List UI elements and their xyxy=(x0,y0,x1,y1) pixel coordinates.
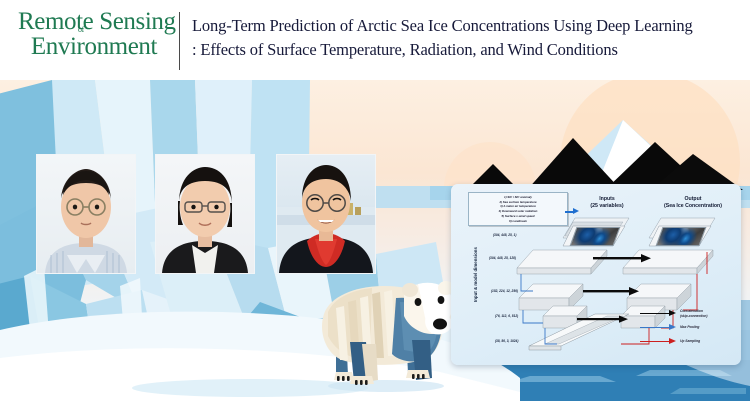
max-pooling-arrow-icon xyxy=(640,327,676,329)
legend-label-line1: Concatenation xyxy=(680,309,703,313)
legend-label-max-pooling: Max Pooling xyxy=(680,325,699,329)
journal-name-line2-wrap: of Environment xyxy=(18,34,170,59)
up-sampling-arrow-icon xyxy=(640,341,676,343)
author-photo-2 xyxy=(155,154,255,274)
inputs-heading-line2: (25 variables) xyxy=(567,203,647,210)
journal-name-line2: Environment xyxy=(31,33,157,60)
journal-logo: Remote Sensing of Environment xyxy=(18,9,170,59)
model-architecture-diagram: 1) SIC / SIC anomaly 2) Sea surface temp… xyxy=(451,184,741,365)
journal-name-line1: Remote Sensing xyxy=(18,9,170,34)
legend-label-line2: (skip-connection) xyxy=(680,314,707,318)
journal-graphical-abstract: 1) SIC / SIC anomaly 2) Sea surface temp… xyxy=(0,0,750,401)
inputs-heading-line1: Inputs xyxy=(567,196,647,203)
inputs-heading: Inputs (25 variables) xyxy=(567,196,647,210)
journal-name-of: of xyxy=(78,26,84,34)
input-flow-arrow-icon xyxy=(565,211,574,213)
diagram-legend: Concatenation (skip-connection) Max Pool… xyxy=(640,309,736,351)
legend-label-up-sampling: Up Sampling xyxy=(680,339,700,343)
concatenation-arrow-icon xyxy=(640,313,676,315)
dimension-label-0: (304, 448, 25, 1) xyxy=(493,233,516,237)
output-heading-line2: (Sea Ice Concentration) xyxy=(647,203,739,210)
variable-item: 6) Landmask xyxy=(471,219,565,224)
title-line-1: Long-Term Prediction of Arctic Sea Ice C… xyxy=(192,14,744,38)
input-variable-list: 1) SIC / SIC anomaly 2) Sea surface temp… xyxy=(468,192,568,226)
mountain-range-right xyxy=(455,98,750,193)
title-line-2: : Effects of Surface Temperature, Radiat… xyxy=(192,38,744,62)
author-photo-3 xyxy=(276,154,376,274)
author-photo-1 xyxy=(36,154,136,274)
legend-row-concatenation: Concatenation (skip-connection) xyxy=(640,309,736,318)
output-heading-line1: Output xyxy=(647,196,739,203)
legend-label-concatenation: Concatenation (skip-connection) xyxy=(680,309,707,318)
header-divider xyxy=(179,12,180,70)
legend-row-up-sampling: Up Sampling xyxy=(640,337,736,346)
legend-row-max-pooling: Max Pooling xyxy=(640,323,736,332)
axis-label-dimensions: Input & model dimensions xyxy=(473,247,478,302)
output-heading: Output (Sea Ice Concentration) xyxy=(647,196,739,210)
polar-bear-illustration xyxy=(300,268,465,396)
page-title: Long-Term Prediction of Arctic Sea Ice C… xyxy=(192,14,744,63)
